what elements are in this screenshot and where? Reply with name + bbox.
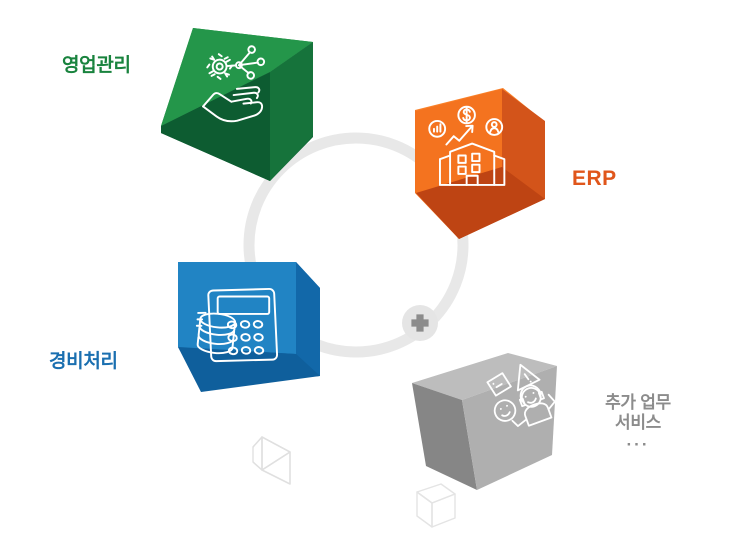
label-sales: 영업관리	[62, 54, 131, 77]
cube-expense[interactable]	[178, 262, 320, 392]
label-extra-text: 추가 업무 서비스	[605, 393, 671, 433]
cube-erp-faces	[416, 89, 545, 239]
outline-upright-cube	[417, 484, 455, 527]
cube-sales[interactable]	[161, 28, 313, 181]
label-expense: 경비처리	[49, 350, 118, 373]
cube-extra-shape	[412, 353, 557, 490]
plus-badge[interactable]	[402, 305, 438, 341]
label-extra: 추가 업무 서비스 ···	[586, 372, 690, 476]
cube-erp[interactable]	[415, 88, 545, 239]
infographic-stage: 영업관리 ERP 경비처리 추가 업무 서비스 ···	[0, 0, 735, 535]
cube-sales-shape	[161, 28, 313, 181]
outline-diamond-cube	[253, 437, 290, 484]
label-erp: ERP	[572, 166, 617, 192]
cube-extra[interactable]	[412, 353, 560, 490]
label-extra-dots: ···	[586, 436, 690, 455]
